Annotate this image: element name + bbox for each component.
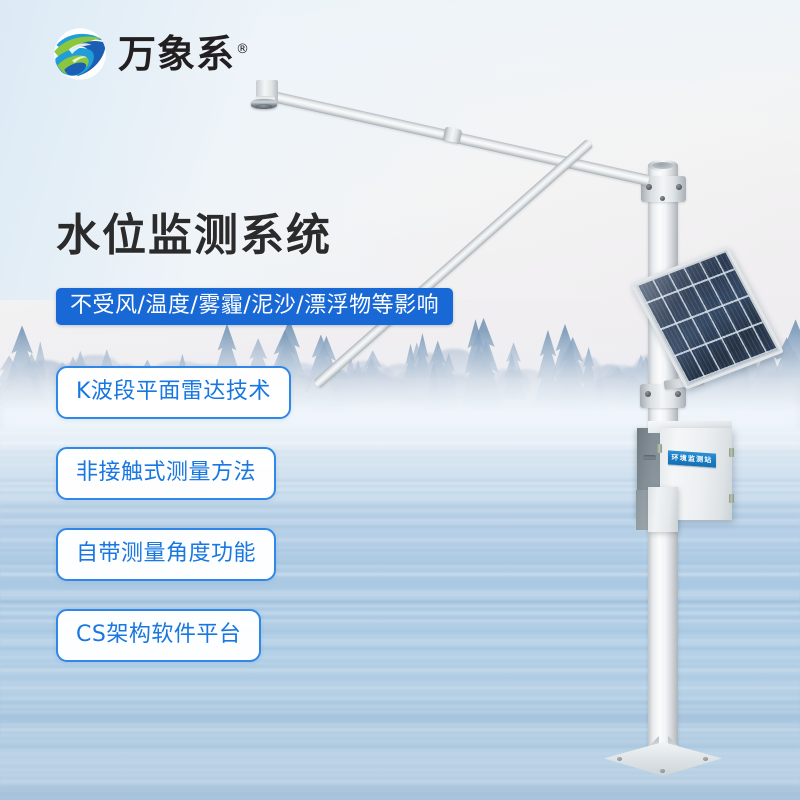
product-hero-image: 环境监测站 (0, 0, 800, 800)
cabinet-vent (643, 455, 656, 460)
cabinet-hinge (729, 494, 734, 503)
brand-logo: 万象系® (52, 26, 250, 82)
radar-sensor-lens (256, 104, 272, 109)
clamp-bolt (675, 391, 681, 397)
globe-swirl-icon (52, 26, 108, 82)
clamp-bolt (660, 196, 665, 201)
mast-pole-bore (652, 162, 674, 169)
registered-mark: ® (236, 42, 250, 57)
feature-pill-3: CS架构软件平台 (56, 609, 261, 662)
cabinet-hinge (729, 448, 734, 457)
cabinet-label-text: 环境监测站 (672, 454, 713, 464)
lower-equipment-box (648, 487, 678, 532)
brand-name-text: 万象系 (118, 32, 235, 76)
cabinet-hinge (657, 444, 662, 453)
diagonal-brace (313, 139, 594, 389)
clamp-bolt (645, 391, 651, 397)
subtitle-banner: 不受风/温度/雾霾/泥沙/漂浮物等影响 (56, 288, 453, 325)
base-bolt-hole (617, 757, 622, 761)
clamp-bolt (676, 184, 682, 190)
base-bolt-hole (703, 757, 708, 761)
base-bolt-hole (660, 769, 665, 773)
feature-pill-0: K波段平面雷达技术 (56, 366, 291, 419)
feature-pill-1: 非接触式测量方法 (56, 447, 276, 500)
page-title: 水位监测系统 (56, 214, 332, 258)
brand-name: 万象系® (118, 35, 250, 73)
feature-pill-2: 自带测量角度功能 (56, 528, 276, 581)
